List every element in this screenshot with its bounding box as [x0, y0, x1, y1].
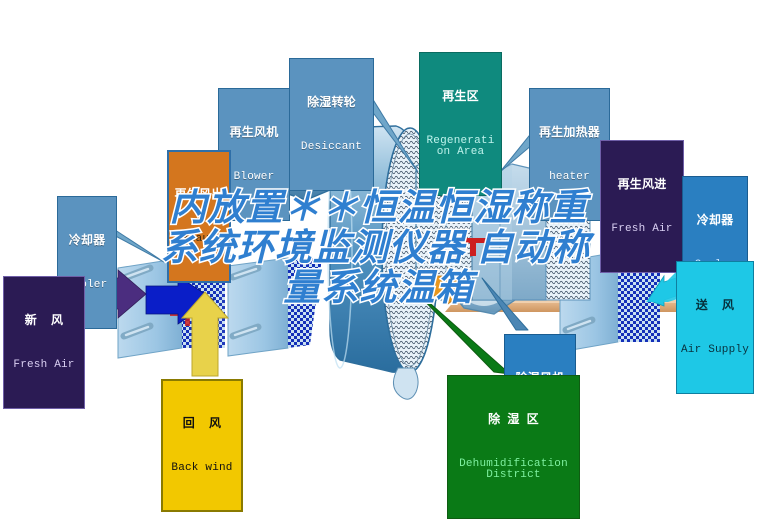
- label-en: Dehumidification District: [450, 459, 577, 482]
- label-cn: 冷却器: [685, 214, 745, 227]
- label-desiccant-wheel[interactable]: 除湿转轮 Desiccant: [289, 58, 374, 191]
- label-cn: 再生区: [422, 90, 499, 103]
- label-regeneration-heater[interactable]: 再生加热器 heater: [529, 88, 610, 221]
- label-regeneration-fresh-air[interactable]: 再生风进 Fresh Air: [600, 140, 684, 273]
- label-en: Desiccant: [292, 142, 371, 154]
- label-fresh-air[interactable]: 新 风 Fresh Air: [3, 276, 85, 409]
- label-en: Exhaust: [171, 234, 227, 246]
- cooler-coil-second: [228, 258, 322, 356]
- label-cn: 再生风出: [171, 188, 227, 201]
- label-cn: 冷却器: [60, 234, 114, 247]
- label-en: Air Supply: [679, 345, 751, 357]
- label-cn: 送 风: [679, 299, 751, 312]
- diagram-canvas: XT: [0, 0, 757, 488]
- label-exhaust[interactable]: 再生风出 Exhaust: [167, 150, 231, 283]
- label-cn: 回 风: [165, 417, 239, 430]
- label-cn: 新 风: [6, 314, 82, 327]
- label-cn: 除 湿 区: [450, 413, 577, 426]
- label-air-supply[interactable]: 送 风 Air Supply: [676, 261, 754, 394]
- label-regeneration-area[interactable]: 再生区 Regenerati on Area: [419, 52, 502, 196]
- label-en: Fresh Air: [603, 224, 681, 236]
- label-en: Regenerati on Area: [422, 136, 499, 159]
- label-cn: 再生风进: [603, 178, 681, 191]
- label-cn: 再生加热器: [532, 126, 607, 139]
- label-en: Fresh Air: [6, 360, 82, 372]
- label-en: Back wind: [165, 463, 239, 475]
- label-en: heater: [532, 172, 607, 184]
- label-back-wind[interactable]: 回 风 Back wind: [161, 379, 243, 512]
- svg-text:XT: XT: [395, 310, 412, 325]
- label-cn: 除湿转轮: [292, 96, 371, 109]
- label-cn: 再生风机: [221, 126, 287, 139]
- label-dehumidification-district[interactable]: 除 湿 区 Dehumidification District: [447, 375, 580, 519]
